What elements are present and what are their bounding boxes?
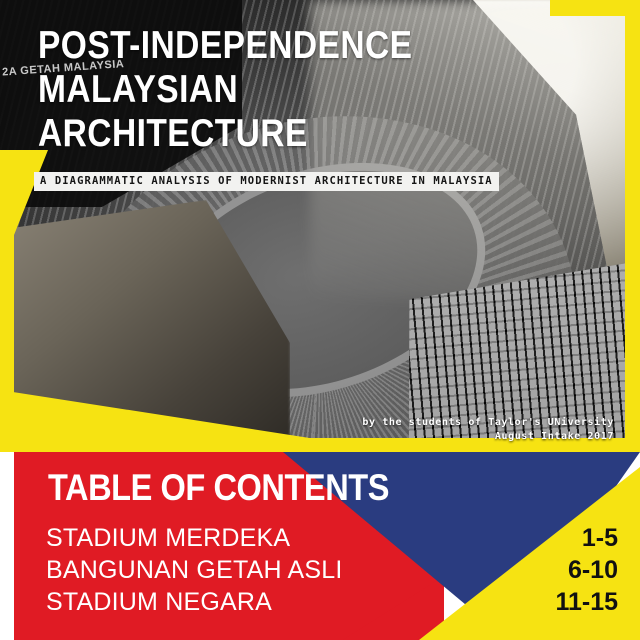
toc-entry-row[interactable]: STADIUM MERDEKA [46, 522, 342, 554]
credit-line-2: August Intake 2017 [362, 430, 614, 444]
poster-subtitle: A DIAGRAMMATIC ANALYSIS OF MODERNIST ARC… [40, 175, 493, 187]
table-of-contents-section: TABLE OF CONTENTS STADIUM MERDEKA BANGUN… [0, 452, 640, 640]
poster-credit: by the students of Taylor's UNiversity A… [362, 416, 614, 444]
toc-entry-label: BANGUNAN GETAH ASLI [46, 556, 342, 584]
title-line-3: ARCHITECTURE [38, 112, 412, 156]
toc-page-number-list: 1-5 6-10 11-15 [555, 522, 618, 618]
toc-page-row: 1-5 [555, 522, 618, 554]
poster-title: POST-INDEPENDENCE MALAYSIAN ARCHITECTURE [38, 24, 473, 156]
toc-entry-list: STADIUM MERDEKA BANGUNAN GETAH ASLI STAD… [46, 522, 342, 618]
frame-right-bar [625, 0, 640, 452]
toc-page-row: 11-15 [555, 586, 618, 618]
toc-entry-row[interactable]: BANGUNAN GETAH ASLI [46, 554, 342, 586]
toc-page-number: 1-5 [582, 524, 618, 552]
toc-heading: TABLE OF CONTENTS [48, 468, 389, 508]
toc-page-number: 11-15 [555, 588, 618, 616]
toc-page-number: 6-10 [568, 556, 618, 584]
toc-entry-row[interactable]: STADIUM NEGARA [46, 586, 342, 618]
title-line-2: MALAYSIAN [38, 68, 412, 112]
toc-page-row: 6-10 [555, 554, 618, 586]
toc-entry-label: STADIUM MERDEKA [46, 524, 290, 552]
poster-root: 2A GETAH MALAYSIA POST-INDEPENDENCE MALA… [0, 0, 640, 640]
title-line-1: POST-INDEPENDENCE [38, 24, 412, 68]
credit-line-1: by the students of Taylor's UNiversity [362, 416, 614, 430]
toc-entry-label: STADIUM NEGARA [46, 588, 272, 616]
poster-subtitle-strip: A DIAGRAMMATIC ANALYSIS OF MODERNIST ARC… [34, 172, 499, 191]
hero-photo-section: 2A GETAH MALAYSIA POST-INDEPENDENCE MALA… [0, 0, 640, 452]
